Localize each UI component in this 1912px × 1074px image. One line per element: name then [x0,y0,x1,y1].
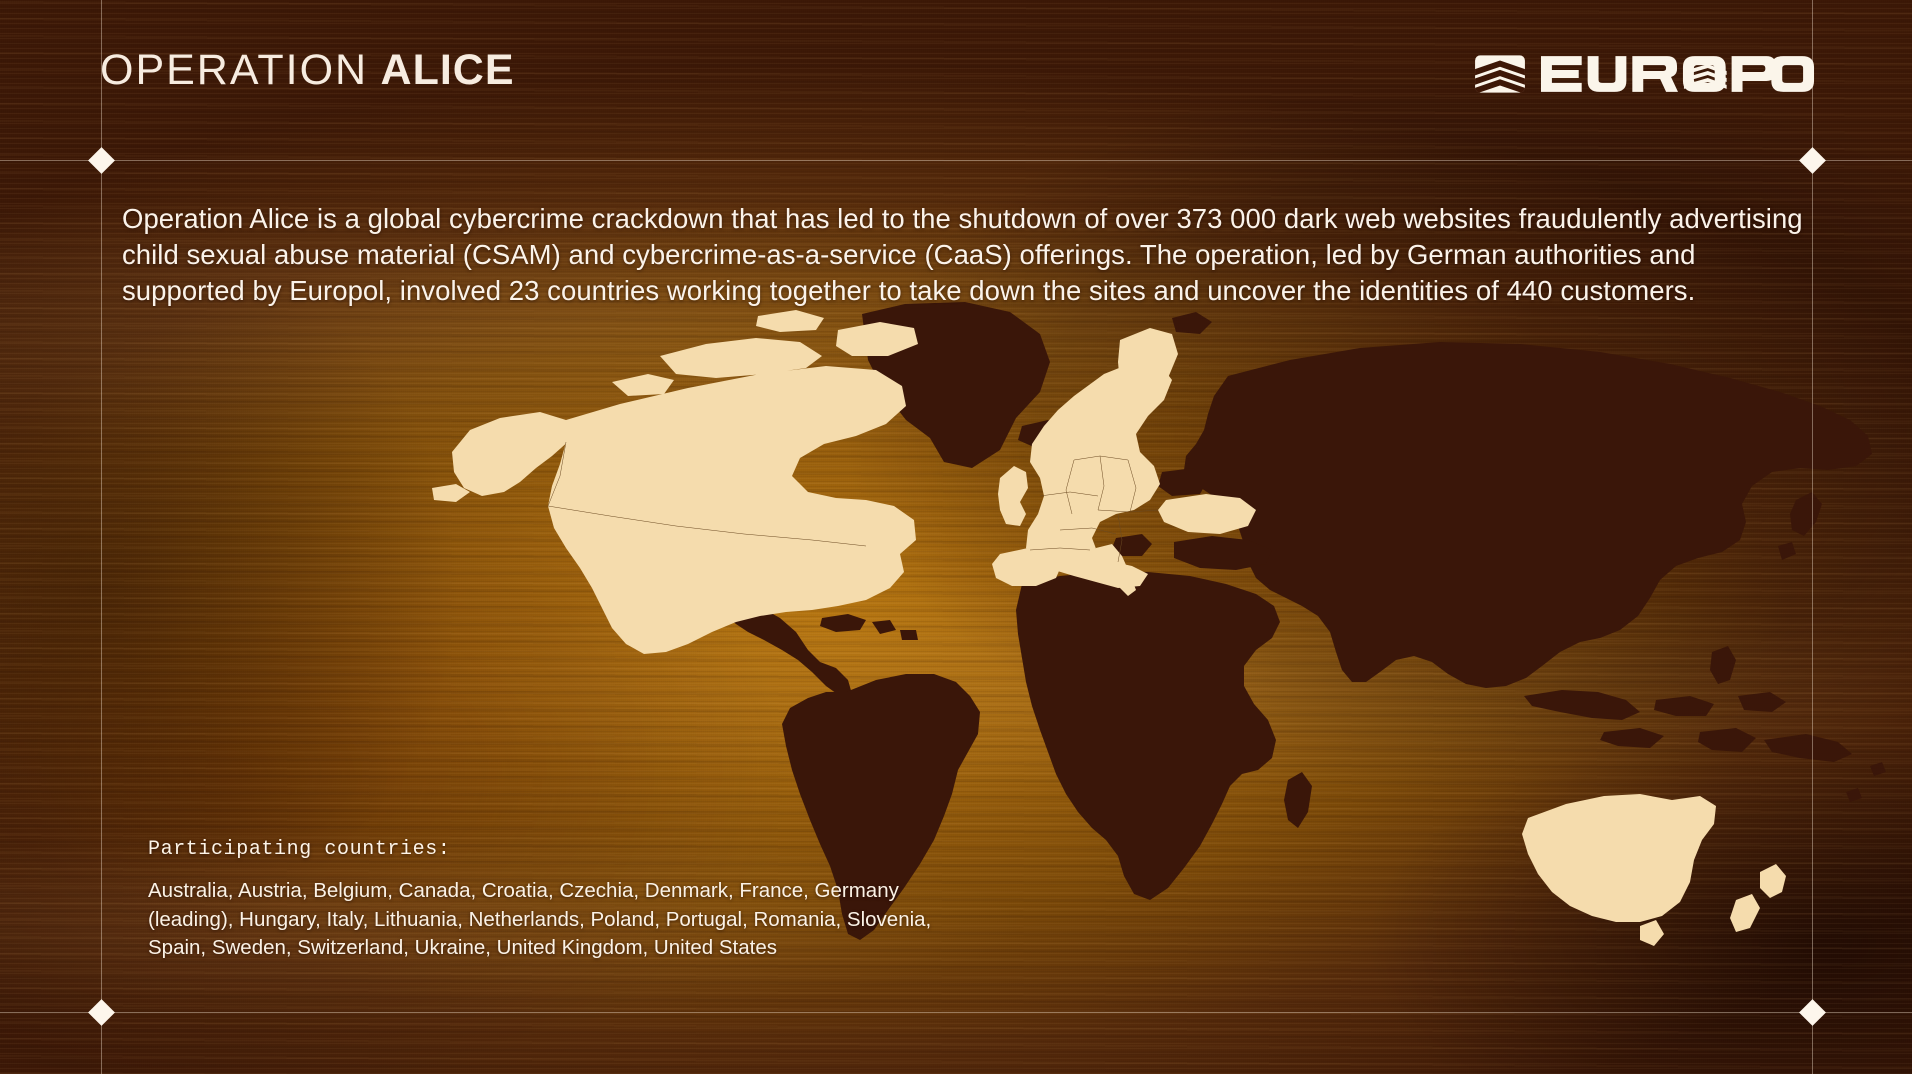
page-title: OPERATION ALICE [100,46,515,95]
landmass-southeast-asia-islands [1524,690,1786,752]
landmass-svalbard [1172,312,1212,334]
participating-countries-block: Participating countries: Australia, Aust… [148,838,1028,963]
europol-logo [1474,48,1817,100]
landmass-pacific-islands [1846,762,1886,802]
participating-countries-list: Australia, Austria, Belgium, Canada, Cro… [148,877,968,963]
landmass-madagascar [1284,772,1312,828]
intro-paragraph: Operation Alice is a global cybercrime c… [122,201,1812,309]
landmass-scandinavia [1118,328,1178,412]
landmass-alaska [432,412,570,502]
slide-header: OPERATION ALICE [0,0,1912,160]
landmass-caribbean [820,614,918,640]
landmass-united-kingdom [998,466,1028,526]
landmass-japan [1778,492,1822,560]
europol-wordmark [1539,49,1817,99]
landmass-new-zealand [1730,864,1786,932]
landmass-asia [1184,342,1872,688]
page-title-bold: ALICE [381,46,515,94]
page-title-light: OPERATION [100,46,368,94]
landmass-australia [1522,794,1716,946]
participating-countries-heading: Participating countries: [148,838,1028,861]
landmass-philippines [1710,646,1736,684]
landmass-papua-new-guinea [1764,734,1852,762]
europol-chevron-wave-icon [1474,48,1526,100]
slide-canvas: OPERATION ALICE [0,0,1912,1074]
landmass-africa [1016,572,1280,900]
